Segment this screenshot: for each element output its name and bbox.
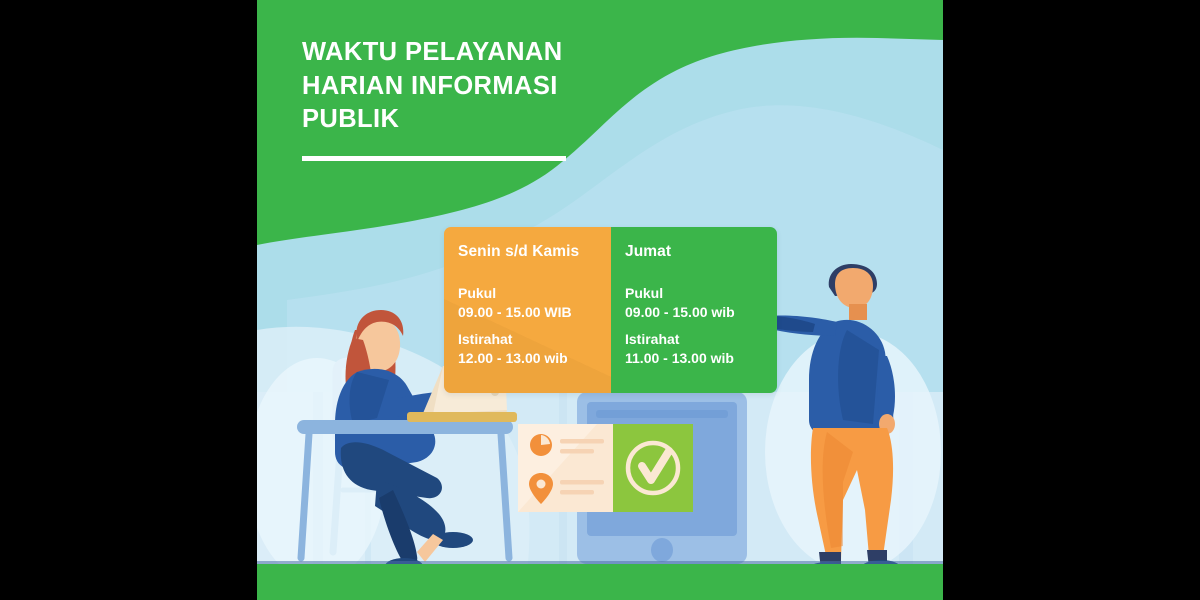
schedule-day-label: Jumat: [625, 243, 763, 261]
bottom-green-band: [257, 564, 943, 600]
title-underline-rule: [302, 156, 566, 161]
schedule-row-pukul: Pukul 09.00 - 15.00 wib: [625, 284, 763, 321]
schedule-row-pukul: Pukul 09.00 - 15.00 WIB: [458, 284, 597, 321]
schedule-row-label: Pukul: [625, 284, 763, 303]
infographic-artboard: WAKTU PELAYANAN HARIAN INFORMASI PUBLIK …: [257, 0, 943, 600]
title-block: WAKTU PELAYANAN HARIAN INFORMASI PUBLIK: [302, 36, 632, 161]
page-title: WAKTU PELAYANAN HARIAN INFORMASI PUBLIK: [302, 36, 632, 137]
screenshot-stage: WAKTU PELAYANAN HARIAN INFORMASI PUBLIK …: [0, 0, 1200, 600]
schedule-row-value: 09.00 - 15.00 WIB: [458, 303, 597, 322]
schedule-row-istirahat: Istirahat 11.00 - 13.00 wib: [625, 330, 763, 367]
glow-ellipse-right: [765, 332, 941, 572]
schedule-card[interactable]: Senin s/d Kamis Pukul 09.00 - 15.00 WIB …: [444, 227, 777, 393]
schedule-row-istirahat: Istirahat 12.00 - 13.00 wib: [458, 330, 597, 367]
schedule-row-value: 09.00 - 15.00 wib: [625, 303, 763, 322]
schedule-row-label: Istirahat: [625, 330, 763, 349]
schedule-row-value: 12.00 - 13.00 wib: [458, 349, 597, 368]
schedule-row-value: 11.00 - 13.00 wib: [625, 349, 763, 368]
schedule-column-senin-kamis[interactable]: Senin s/d Kamis Pukul 09.00 - 15.00 WIB …: [444, 227, 611, 393]
schedule-row-label: Istirahat: [458, 330, 597, 349]
schedule-row-label: Pukul: [458, 284, 597, 303]
schedule-column-jumat[interactable]: Jumat Pukul 09.00 - 15.00 wib Istirahat …: [611, 227, 777, 393]
wall-stripe: [559, 392, 567, 567]
schedule-day-label: Senin s/d Kamis: [458, 243, 597, 261]
